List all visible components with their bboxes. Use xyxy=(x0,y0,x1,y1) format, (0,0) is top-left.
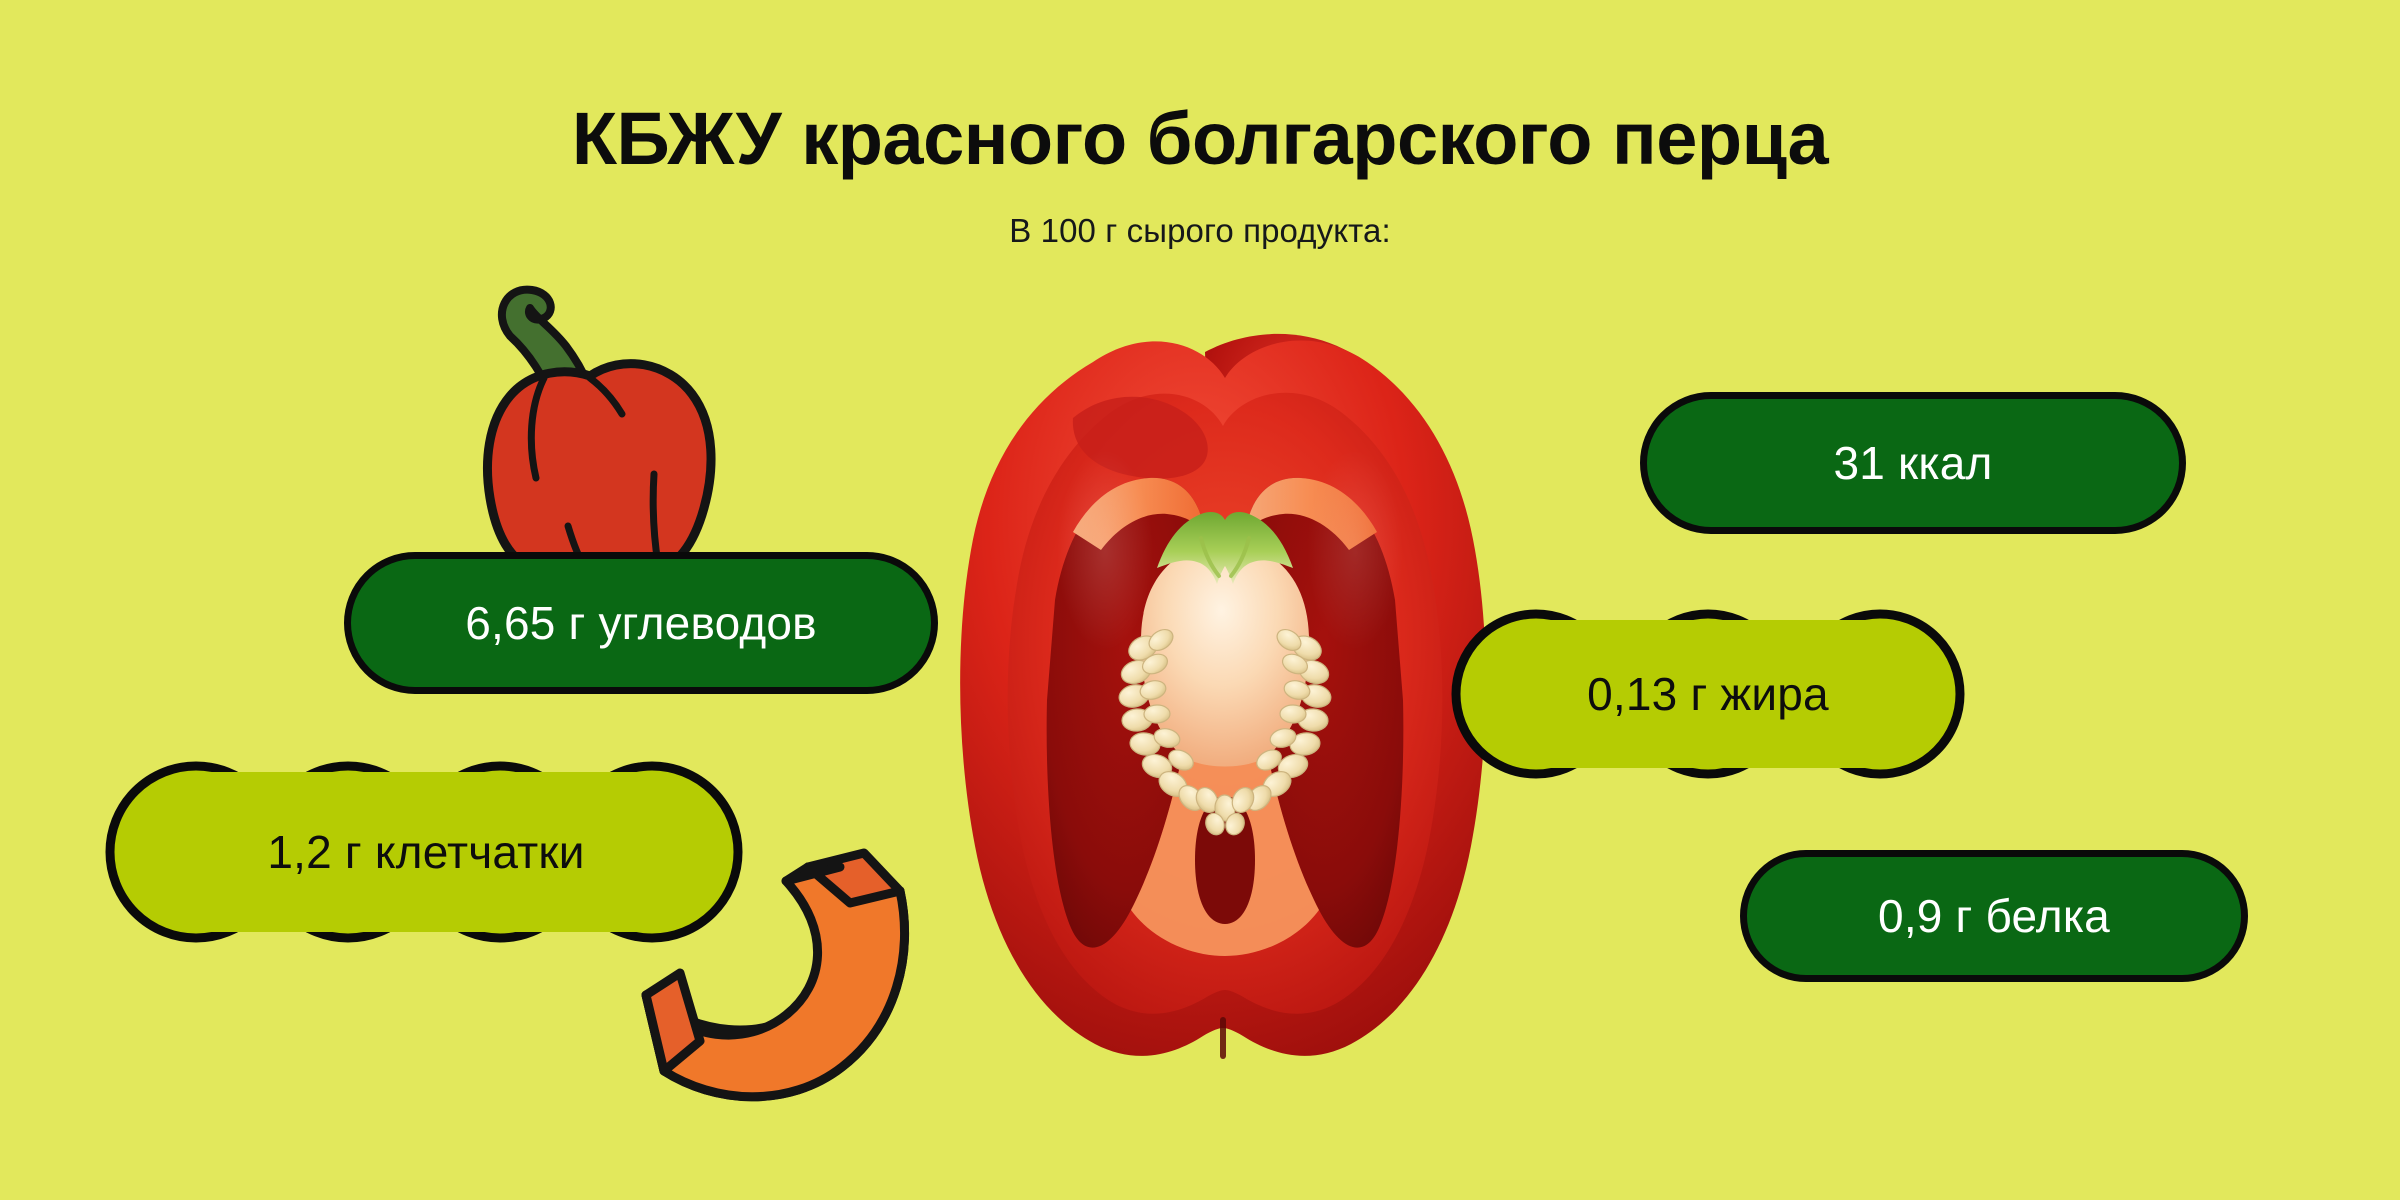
infographic-poster: КБЖУ красного болгарского перца В 100 г … xyxy=(0,0,2400,1200)
pepper-cross-section-photo xyxy=(905,300,1545,1090)
protein-badge-label: 0,9 г белка xyxy=(1878,893,2110,939)
page-title: КБЖУ красного болгарского перца xyxy=(0,96,2400,181)
carbohydrates-badge[interactable]: 6,65 г углеводов xyxy=(344,552,938,694)
fiber-badge[interactable]: 1,2 г клетчатки xyxy=(104,762,748,942)
carbohydrates-badge-label: 6,65 г углеводов xyxy=(465,600,817,646)
whole-pepper-illustration xyxy=(440,258,740,578)
fiber-badge-label: 1,2 г клетчатки xyxy=(267,829,584,875)
calories-badge[interactable]: 31 ккал xyxy=(1640,392,2186,534)
protein-badge[interactable]: 0,9 г белка xyxy=(1740,850,2248,982)
fat-badge-label: 0,13 г жира xyxy=(1587,671,1829,717)
page-subtitle: В 100 г сырого продукта: xyxy=(0,212,2400,250)
fat-badge[interactable]: 0,13 г жира xyxy=(1452,610,1964,778)
calories-badge-label: 31 ккал xyxy=(1833,440,1992,486)
